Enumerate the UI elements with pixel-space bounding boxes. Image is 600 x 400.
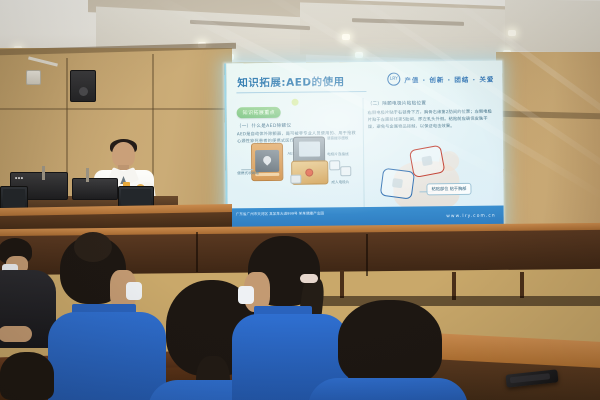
- uniform-shirt: [48, 312, 166, 400]
- callout-leader-line: [241, 169, 253, 170]
- company-slogan: 产值 · 创新 · 团结 · 关爱: [404, 73, 494, 84]
- mic-stand: [42, 166, 45, 180]
- projection-screen: 知识拓展:AED的使用 LRY 产值 · 创新 · 团结 · 关爱 知识拓展重点…: [224, 61, 504, 230]
- ceiling-panel-right: [505, 0, 600, 53]
- desk-leg: [520, 272, 524, 298]
- wall-right-wood-panel: [496, 52, 600, 252]
- audience-member: [0, 352, 60, 400]
- pad-placement-diagram: 粘贴部位 贴于胸部: [377, 149, 474, 212]
- wall-seam-h: [0, 108, 232, 110]
- right-paragraph: 右侧电极片贴于右锁骨下方，胸骨右缘第2肋间的位置；左侧电极片贴于左腋前线第5肋间…: [368, 108, 494, 131]
- audience-member: [48, 236, 158, 400]
- slide-title: 知识拓展:AED的使用: [237, 74, 344, 90]
- monitor-screen: [3, 189, 25, 207]
- electrode-pad: [340, 166, 351, 176]
- equipment-face: [121, 189, 151, 205]
- person-hand: [0, 326, 32, 342]
- downlight: [508, 30, 516, 36]
- pad-placement-callout: 粘贴部位 贴于胸部: [427, 183, 472, 196]
- ceiling-panel-mid: [300, 2, 510, 61]
- uniform-shirt: [308, 378, 468, 400]
- electrode-pads-pair: [329, 160, 351, 176]
- face-mask: [238, 286, 254, 304]
- person-hair: [338, 300, 442, 386]
- aed-display: [299, 141, 320, 156]
- wall-speaker: [70, 70, 96, 102]
- aed-label-pads: 成人电极片: [331, 180, 349, 185]
- footer-address: 广东省广州市天河区 某某某大道999号 某某健康产业园: [236, 211, 324, 217]
- company-logo-icon: LRY: [387, 73, 400, 86]
- footer-url: www.lry.com.cn: [446, 214, 496, 220]
- amplifier-label: ◾◾◾: [15, 176, 24, 180]
- section-badge: 知识拓展重点: [237, 107, 282, 118]
- downlight: [355, 52, 363, 58]
- presentation-slide: 知识拓展:AED的使用 LRY 产值 · 创新 · 团结 · 关爱 知识拓展重点…: [226, 61, 504, 230]
- aed-label-closed: 便携式收纳箱: [237, 171, 259, 176]
- downlight: [342, 34, 350, 40]
- aed-open-unit-illustration: [291, 136, 328, 184]
- electrode-pad-red: [409, 145, 446, 178]
- pad-inner-icon: [392, 178, 403, 188]
- electrode-pad: [329, 160, 340, 170]
- aed-illustration-group: 便携式收纳箱 语音提示面板 电极片连接线 成人电极片: [239, 134, 352, 193]
- electrode-pad-blue: [380, 168, 415, 200]
- left-subheading: （一）什么是AED除颤仪: [237, 122, 357, 129]
- face-mask: [126, 282, 142, 300]
- photo-scene: 知识拓展:AED的使用 LRY 产值 · 创新 · 团结 · 关爱 知识拓展重点…: [0, 0, 600, 400]
- aed-label-open-top: 语音提示面板: [327, 136, 349, 141]
- right-subheading: （二）除颤电极片粘贴位置: [368, 100, 494, 107]
- mic-stand: [86, 168, 89, 182]
- aed-label-open-pads: 电极片连接线: [327, 152, 349, 157]
- badge-accent-dot: [292, 99, 299, 106]
- panel-seam: [366, 234, 368, 276]
- audience-member: [328, 300, 458, 400]
- shock-button-icon: [305, 169, 313, 177]
- person-hair-bun: [74, 232, 112, 262]
- aed-electrode-pad: [290, 175, 301, 184]
- company-logo-block: LRY 产值 · 创新 · 团结 · 关爱: [387, 72, 494, 86]
- audio-mixer: [72, 178, 118, 200]
- title-underline: [236, 91, 366, 93]
- person-hair: [0, 352, 54, 400]
- stage-monitor: [0, 186, 28, 210]
- column-divider: [363, 98, 365, 208]
- pad-inner-icon: [421, 156, 432, 167]
- slide-right-column: （二）除颤电极片粘贴位置 右侧电极片贴于右锁骨下方，胸骨右缘第2肋间的位置；左侧…: [367, 95, 493, 131]
- panel-seam: [196, 232, 198, 272]
- hair-tie: [300, 274, 318, 283]
- wall-speaker-small: [26, 70, 41, 85]
